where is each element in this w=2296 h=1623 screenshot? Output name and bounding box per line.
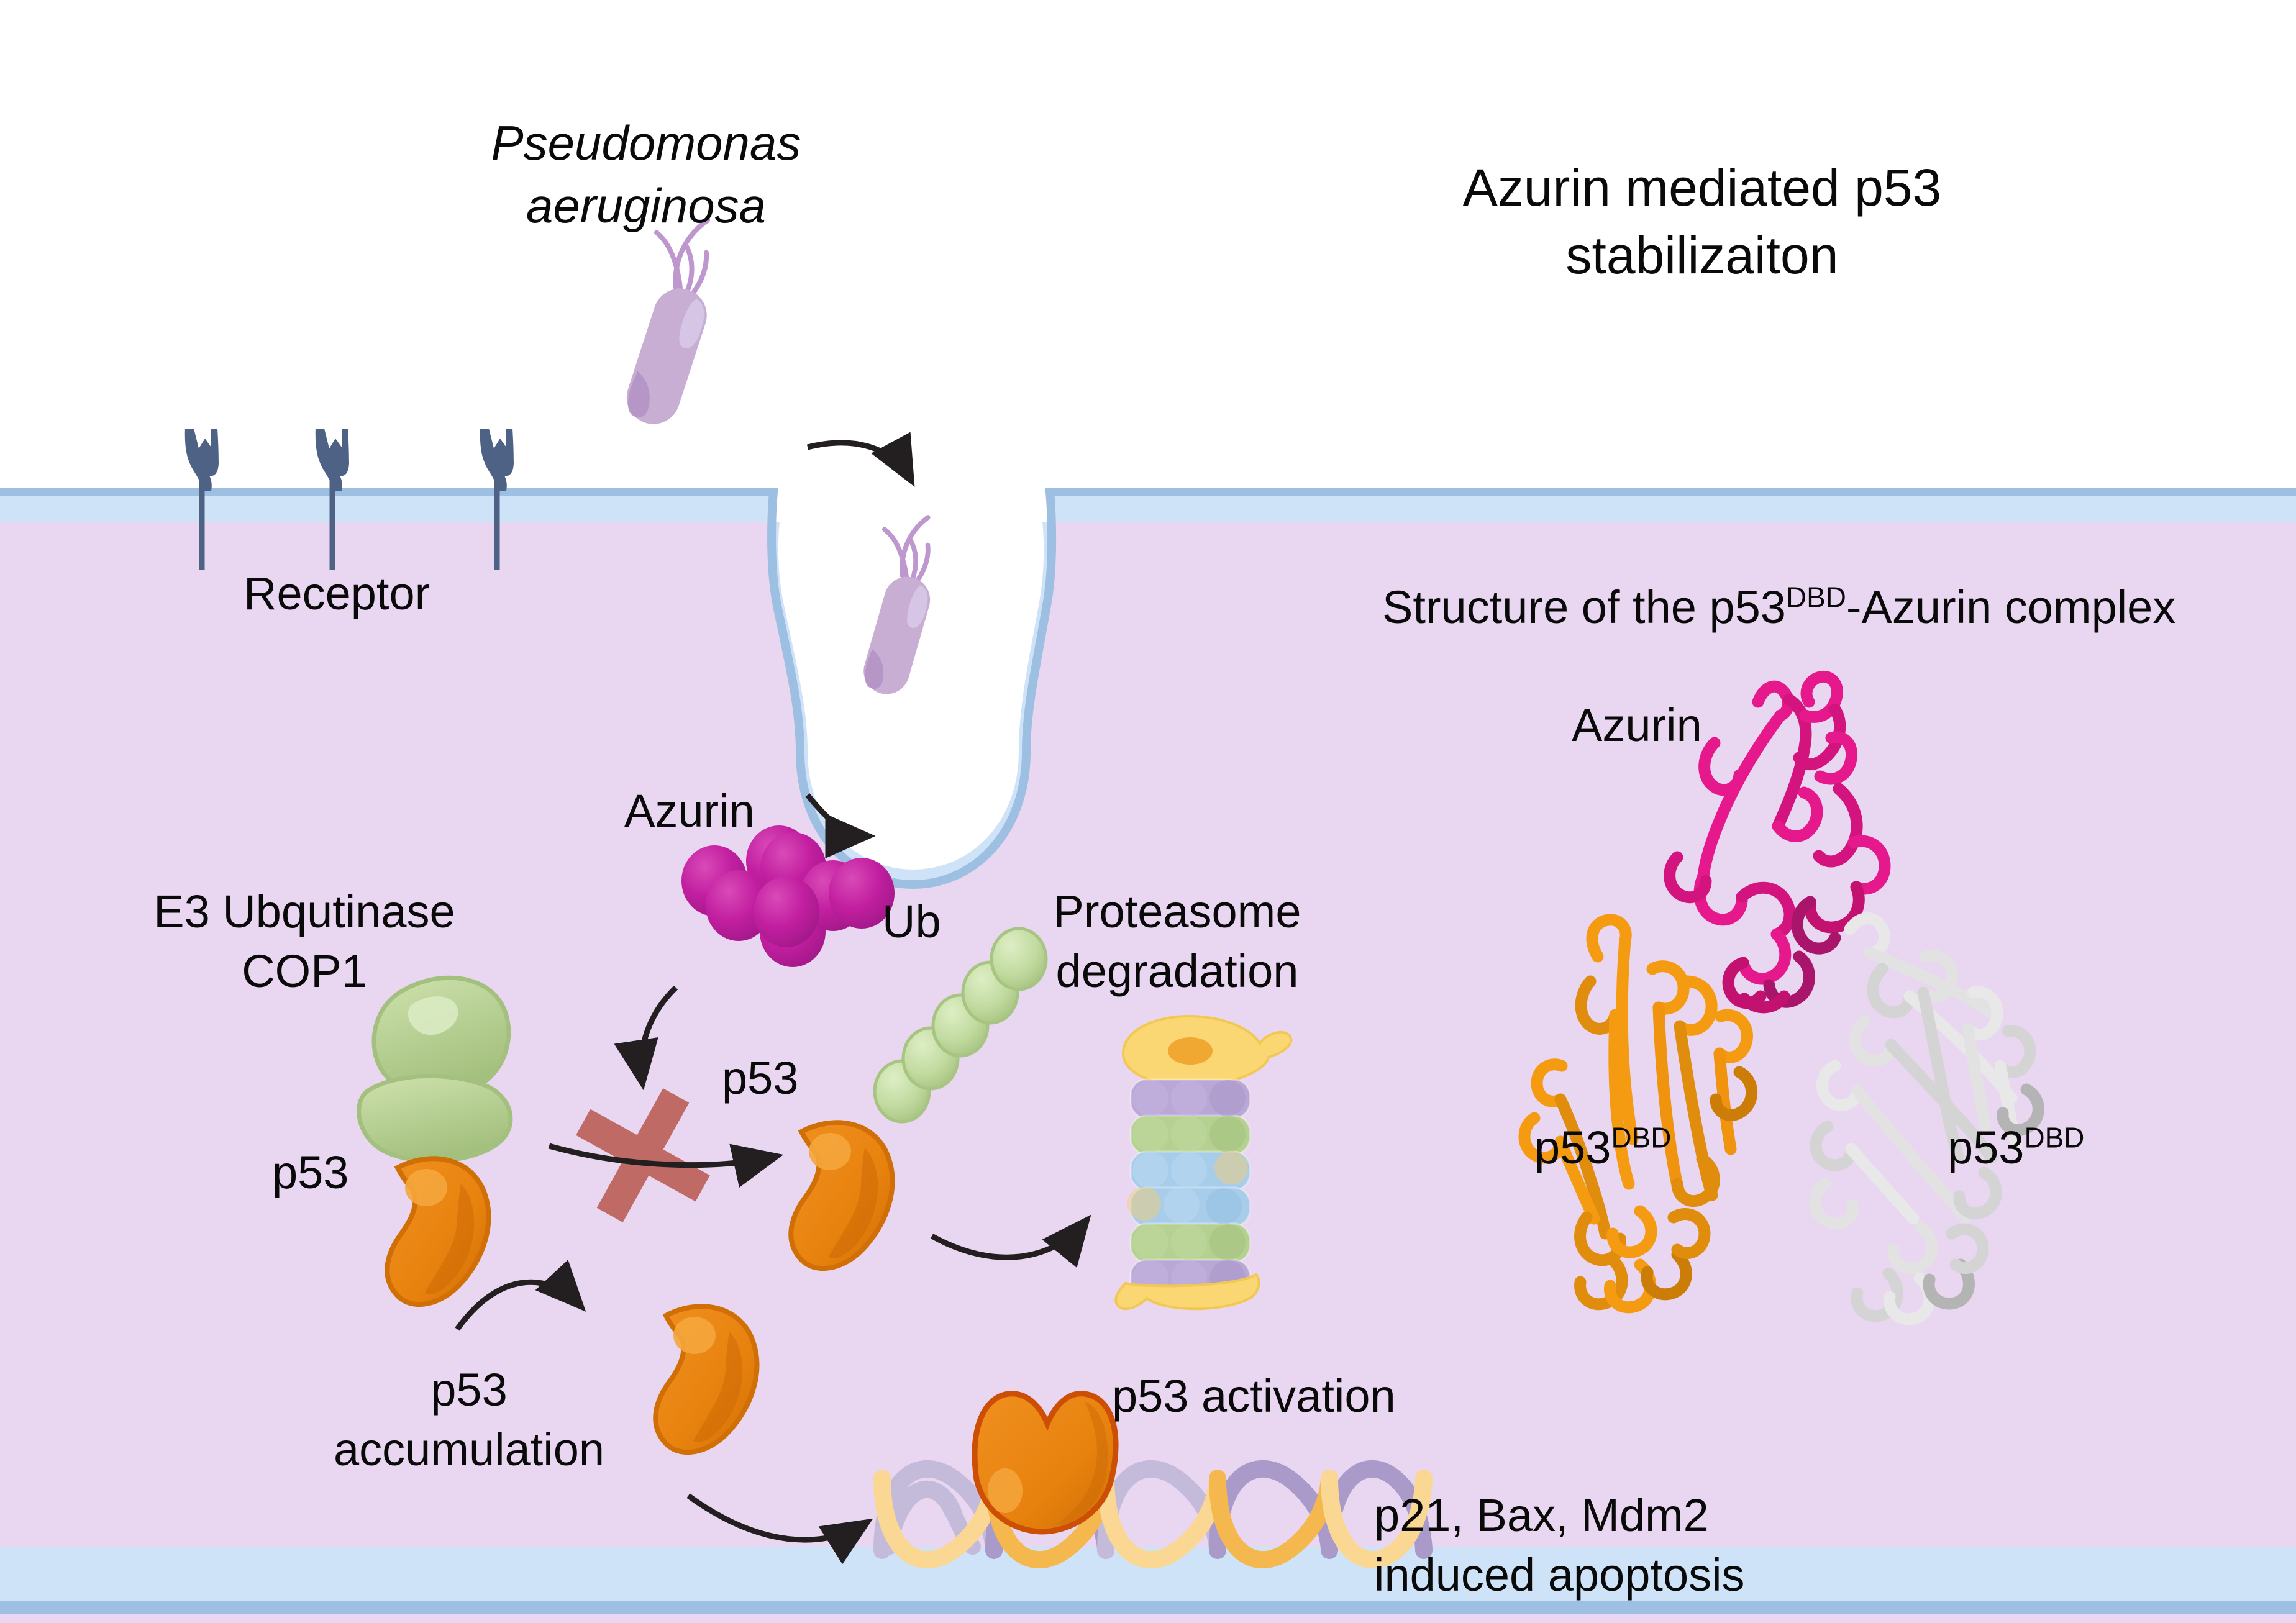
bacterium-icon: [599, 207, 736, 431]
proteasome-label-line1: Proteasome: [1054, 886, 1301, 937]
proteasome-label: Proteasomedegradation: [1031, 882, 1323, 1001]
accumulation-label-line2: accumulation: [334, 1424, 604, 1475]
targets-line2: induced apoptosis: [1374, 1549, 1745, 1601]
pathogen-label: Pseudomonasaeruginosa: [472, 112, 820, 238]
structure-caption-sup: DBD: [1786, 581, 1846, 613]
membrane-outline-bottom: [0, 1601, 2296, 1614]
structure-caption: Structure of the p53DBD-Azurin complex: [1382, 578, 2175, 637]
p53dbd-left-label: p53DBD: [1534, 1118, 1671, 1178]
targets-line1: p21, Bax, Mdm2: [1374, 1489, 1709, 1541]
p53dbd-left-sup: DBD: [1611, 1121, 1671, 1153]
target-genes-label: p21, Bax, Mdm2induced apoptosis: [1374, 1486, 1745, 1605]
azurin-structure-label: Azurin: [1572, 696, 1702, 755]
p53-bound-label: p53: [272, 1143, 348, 1202]
pathogen-label-line1: Pseudomonas: [491, 116, 801, 170]
e3-label-line2: COP1: [242, 945, 367, 997]
p53-ubiquitinated-label: p53: [722, 1048, 798, 1108]
accumulation-label-line1: p53: [430, 1364, 507, 1416]
p53-dna-bound-icon: [975, 1394, 1116, 1532]
bacterium-icon: [840, 507, 952, 699]
e3-label-line1: E3 Ubqutinase: [153, 886, 455, 937]
azurin-cytosol-label: Azurin: [624, 781, 755, 841]
page-title: Azurin mediated p53 stabilizaiton: [1416, 154, 1988, 289]
p53dbd-right-sup: DBD: [2024, 1121, 2084, 1153]
proteasome-label-line2: degradation: [1056, 945, 1299, 997]
pathogen-label-line2: aeruginosa: [526, 178, 766, 233]
curved-arrow-icon: [808, 443, 911, 480]
e3-ubiquitinase-label: E3 UbqutinaseCOP1: [143, 882, 466, 1001]
p53-activation-label: p53 activation: [1112, 1366, 1396, 1426]
figure-canvas: Pseudomonasaeruginosa Azurin mediated p5…: [0, 0, 2296, 1623]
azurin-particle-icon: [754, 876, 819, 947]
p53dbd-right-label: p53DBD: [1947, 1118, 2084, 1178]
receptor-label: Receptor: [244, 564, 430, 624]
ubiquitin-label: Ub: [882, 892, 941, 952]
p53-accumulation-label: p53accumulation: [329, 1360, 609, 1480]
